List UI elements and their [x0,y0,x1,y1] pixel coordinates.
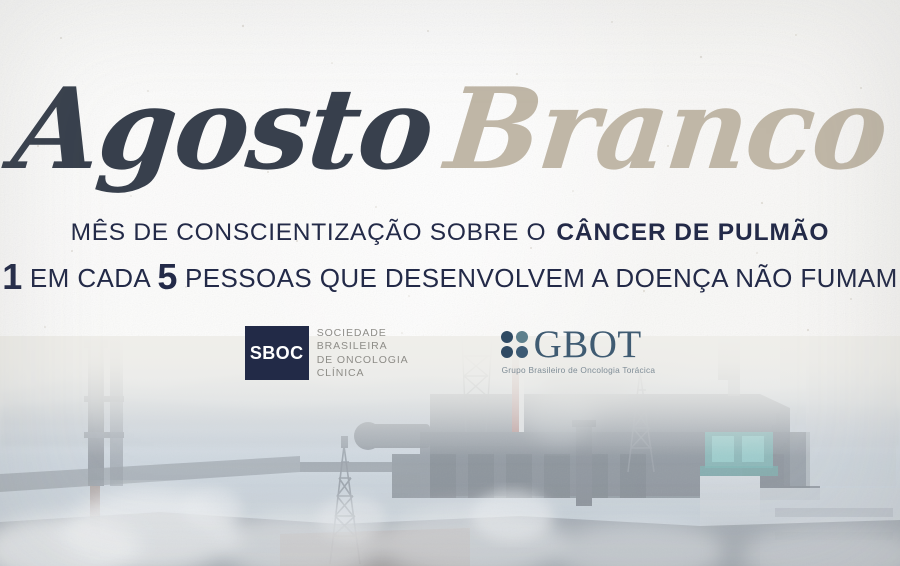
statistic-number-one: 1 [2,256,22,297]
sboc-logo-mark: SBOC [245,326,309,380]
dot-bottom-left-icon [501,346,513,358]
gbot-wordmark: GBOT [534,327,642,363]
sboc-logo[interactable]: SBOC SOCIEDADE BRASILEIRA DE ONCOLOGIA C… [245,326,409,380]
sboc-line-2: BRASILEIRA [317,340,409,353]
sboc-line-1: SOCIEDADE [317,327,409,340]
subheadline: MÊS DE CONSCIENTIZAÇÃO SOBRE OCÂNCER DE … [0,219,900,247]
gbot-tagline: Grupo Brasileiro de Oncologia Torácica [502,365,656,375]
subheadline-bold-text: CÂNCER DE PULMÃO [556,219,829,246]
headline-word-agosto: Agosto [8,74,437,186]
statistic-text-b: PESSOAS QUE DESENVOLVEM A DOENÇA NÃO FUM… [185,263,898,293]
sboc-line-3: DE ONCOLOGIA [317,354,409,367]
statistic-number-five: 5 [157,256,177,297]
dot-top-left-icon [501,331,513,343]
statistic-line: 1 EM CADA 5 PESSOAS QUE DESENVOLVEM A DO… [0,256,900,298]
dot-bottom-right-icon [516,346,528,358]
page-title: AgostoBranco [0,74,900,186]
gbot-logo-top: GBOT [501,327,642,363]
sboc-line-4: CLÍNICA [317,367,409,380]
subheadline-light-text: MÊS DE CONSCIENTIZAÇÃO SOBRE O [71,219,547,246]
gbot-logo[interactable]: GBOT Grupo Brasileiro de Oncologia Torác… [501,326,656,375]
sboc-logo-wordmark: SOCIEDADE BRASILEIRA DE ONCOLOGIA CLÍNIC… [317,326,409,380]
dot-top-right-icon [516,331,528,343]
poster-content: AgostoBranco MÊS DE CONSCIENTIZAÇÃO SOBR… [0,0,900,566]
logo-row: SBOC SOCIEDADE BRASILEIRA DE ONCOLOGIA C… [0,326,900,380]
statistic-text-a: EM CADA [30,263,150,293]
headline-word-branco: Branco [442,74,892,186]
gbot-dots-icon [501,331,528,358]
poster-canvas: AgostoBranco MÊS DE CONSCIENTIZAÇÃO SOBR… [0,0,900,566]
